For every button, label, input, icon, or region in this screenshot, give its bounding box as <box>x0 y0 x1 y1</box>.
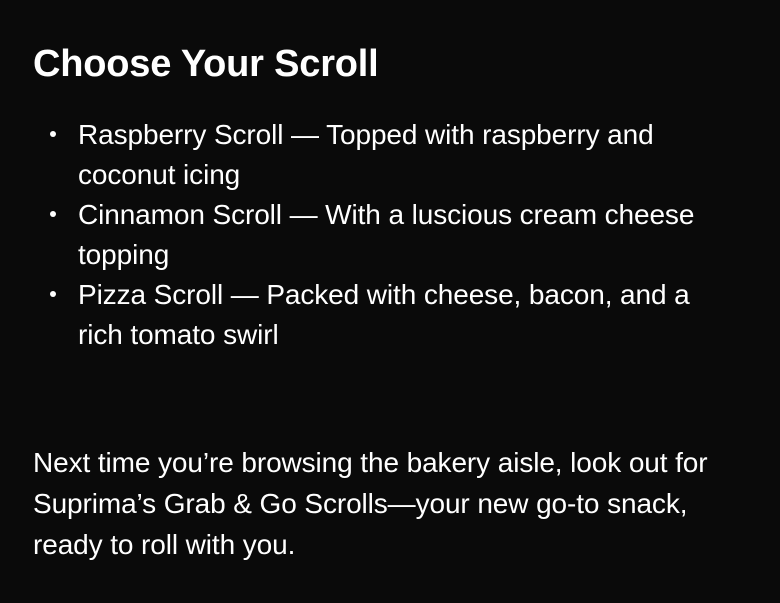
bullet-dot-icon <box>50 291 56 297</box>
scroll-variants-list: Raspberry Scroll — Topped with raspberry… <box>33 115 733 355</box>
bullet-dot-icon <box>50 211 56 217</box>
list-item: Pizza Scroll — Packed with cheese, bacon… <box>33 275 733 355</box>
list-item-label: Cinnamon Scroll — With a luscious cream … <box>78 195 733 275</box>
list-item: Raspberry Scroll — Topped with raspberry… <box>33 115 733 195</box>
list-item-label: Raspberry Scroll — Topped with raspberry… <box>78 115 733 195</box>
list-item: Cinnamon Scroll — With a luscious cream … <box>33 195 733 275</box>
page-title: Choose Your Scroll <box>33 40 379 88</box>
list-item-label: Pizza Scroll — Packed with cheese, bacon… <box>78 275 733 355</box>
closing-paragraph: Next time you’re browsing the bakery ais… <box>33 442 739 565</box>
bullet-dot-icon <box>50 131 56 137</box>
slide-container: Choose Your Scroll Raspberry Scroll — To… <box>0 0 780 603</box>
